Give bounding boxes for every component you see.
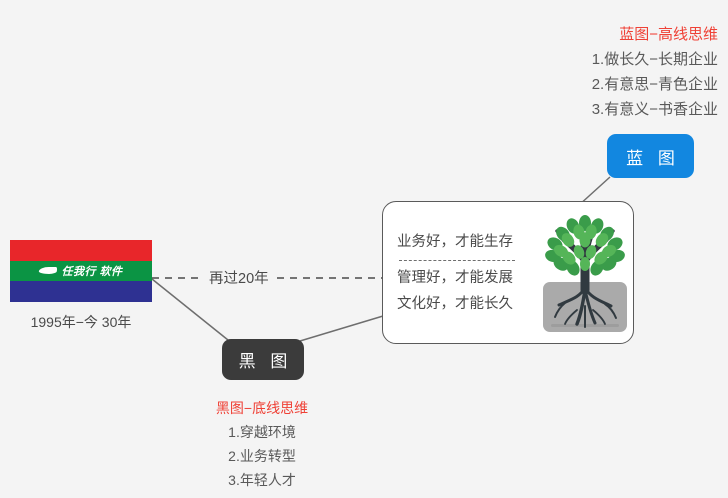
black-notes-block: 黑图−底线思维 1.穿越环境 2.业务转型 3.年轻人才 [150,396,374,492]
mindmap-canvas: 蓝图−高线思维 1.做长久−长期企业 2.有意思−青色企业 3.有意义−书香企业… [0,0,728,498]
flag-band-blue [10,281,152,302]
blue-note-item-3: 3.有意义−书香企业 [432,97,718,122]
blue-note-item-2: 2.有意思−青色企业 [432,72,718,97]
flag-band-red [10,240,152,261]
card-dashed-divider [399,260,515,261]
black-note-item-1: 1.穿越环境 [150,420,374,444]
connector-black-to-card [300,316,383,341]
tree-with-roots-icon [533,202,633,343]
company-timespan-caption: 1995年−今 30年 [10,312,152,332]
blue-notes-title: 蓝图−高线思维 [432,22,718,47]
black-note-item-3: 3.年轻人才 [150,468,374,492]
flag-band-green: 任我行 软件 [10,261,152,282]
connector-flag-to-black [152,279,228,340]
blue-note-item-1: 1.做长久−长期企业 [432,47,718,72]
blueprint-node[interactable]: 蓝 图 [607,134,694,178]
blackprint-node-label: 黑 图 [234,347,293,372]
swoosh-icon [39,267,58,274]
blueprint-node-label: 蓝 图 [621,144,680,169]
black-note-item-2: 2.业务转型 [150,444,374,468]
black-notes-title: 黑图−底线思维 [150,396,374,420]
blue-notes-block: 蓝图−高线思维 1.做长久−长期企业 2.有意思−青色企业 3.有意义−书香企业 [432,22,718,122]
timeline-label: 再过20年 [209,267,269,288]
company-brand-text: 任我行 软件 [61,263,122,279]
principles-card: 业务好，才能生存 管理好，才能发展 文化好，才能长久 [382,201,634,344]
principle-line-business: 业务好，才能生存 [397,229,533,255]
company-logo: 任我行 软件 [10,261,152,282]
company-flag: 任我行 软件 [10,240,152,302]
principle-line-culture: 文化好，才能长久 [397,291,533,317]
blackprint-node[interactable]: 黑 图 [222,339,304,380]
principle-line-management: 管理好，才能发展 [397,265,533,291]
principles-card-text: 业务好，才能生存 管理好，才能发展 文化好，才能长久 [383,229,533,317]
